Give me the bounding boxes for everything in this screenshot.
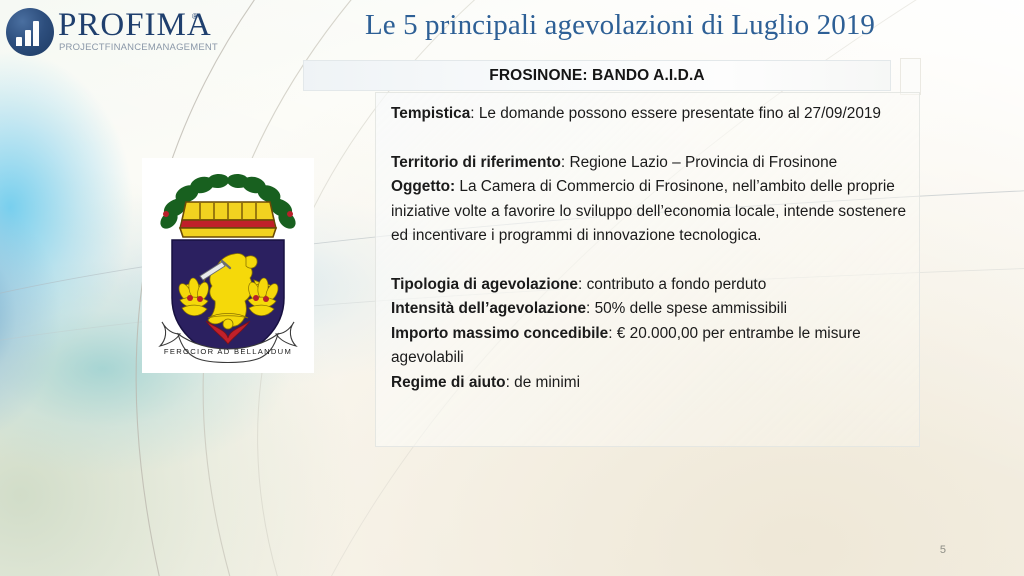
section-banner-title: FROSINONE: BANDO A.I.D.A — [489, 67, 704, 85]
logo-bars — [16, 21, 44, 46]
bando-details: Tempistica: Le domande possono essere pr… — [391, 102, 916, 395]
detail-label: Tempistica — [391, 105, 470, 122]
emblem-motto-text: FEROCIOR AD BELLANDUM — [164, 347, 292, 356]
profima-logo: PROFIMA ® PROJECTFINANCEMANAGEMENT — [6, 6, 211, 58]
frosinone-coat-of-arms: FEROCIOR AD BELLANDUM — [142, 158, 314, 373]
detail-separator: : — [586, 300, 595, 317]
logo-tagline: PROJECTFINANCEMANAGEMENT — [59, 42, 218, 53]
detail-separator: : — [506, 374, 515, 391]
logo-wordmark: PROFIMA — [58, 9, 212, 42]
presentation-slide: PROFIMA ® PROJECTFINANCEMANAGEMENT Le 5 … — [0, 0, 1024, 576]
spacer — [391, 127, 916, 151]
detail-importo: Importo massimo concedibile: € 20.000,00… — [391, 322, 916, 371]
detail-separator: : — [578, 276, 587, 293]
detail-regime: Regime di aiuto: de minimi — [391, 371, 916, 396]
detail-separator: : — [608, 325, 617, 342]
detail-territorio: Territorio di riferimento: Regione Lazio… — [391, 151, 916, 176]
detail-value: Le domande possono essere presentate fin… — [479, 105, 881, 122]
detail-value: 50% delle spese ammissibili — [595, 300, 787, 317]
detail-label: Intensità dell’agevolazione — [391, 300, 586, 317]
slide-title: Le 5 principali agevolazioni di Luglio 2… — [300, 9, 940, 42]
page-number: 5 — [940, 544, 946, 556]
spacer — [391, 249, 916, 273]
detail-value: contributo a fondo perduto — [587, 276, 767, 293]
detail-label: Importo massimo concedibile — [391, 325, 608, 342]
detail-tipologia: Tipologia di agevolazione: contributo a … — [391, 273, 916, 298]
detail-intensita: Intensità dell’agevolazione: 50% delle s… — [391, 297, 916, 322]
detail-tempistica: Tempistica: Le domande possono essere pr… — [391, 102, 916, 127]
detail-label: Oggetto: — [391, 178, 455, 195]
detail-separator: : — [470, 105, 479, 122]
detail-oggetto: Oggetto: La Camera di Commercio di Frosi… — [391, 175, 916, 249]
bar-chart-circle-icon — [6, 8, 54, 56]
section-banner: FROSINONE: BANDO A.I.D.A — [303, 60, 891, 91]
registered-trademark-icon: ® — [192, 12, 198, 21]
detail-value: de minimi — [514, 374, 580, 391]
detail-value: La Camera di Commercio di Frosinone, nel… — [391, 178, 906, 244]
detail-label: Territorio di riferimento — [391, 154, 561, 171]
detail-label: Regime di aiuto — [391, 374, 506, 391]
banner-side-box — [900, 58, 921, 95]
detail-value: Regione Lazio – Provincia di Frosinone — [569, 154, 837, 171]
detail-label: Tipologia di agevolazione — [391, 276, 578, 293]
